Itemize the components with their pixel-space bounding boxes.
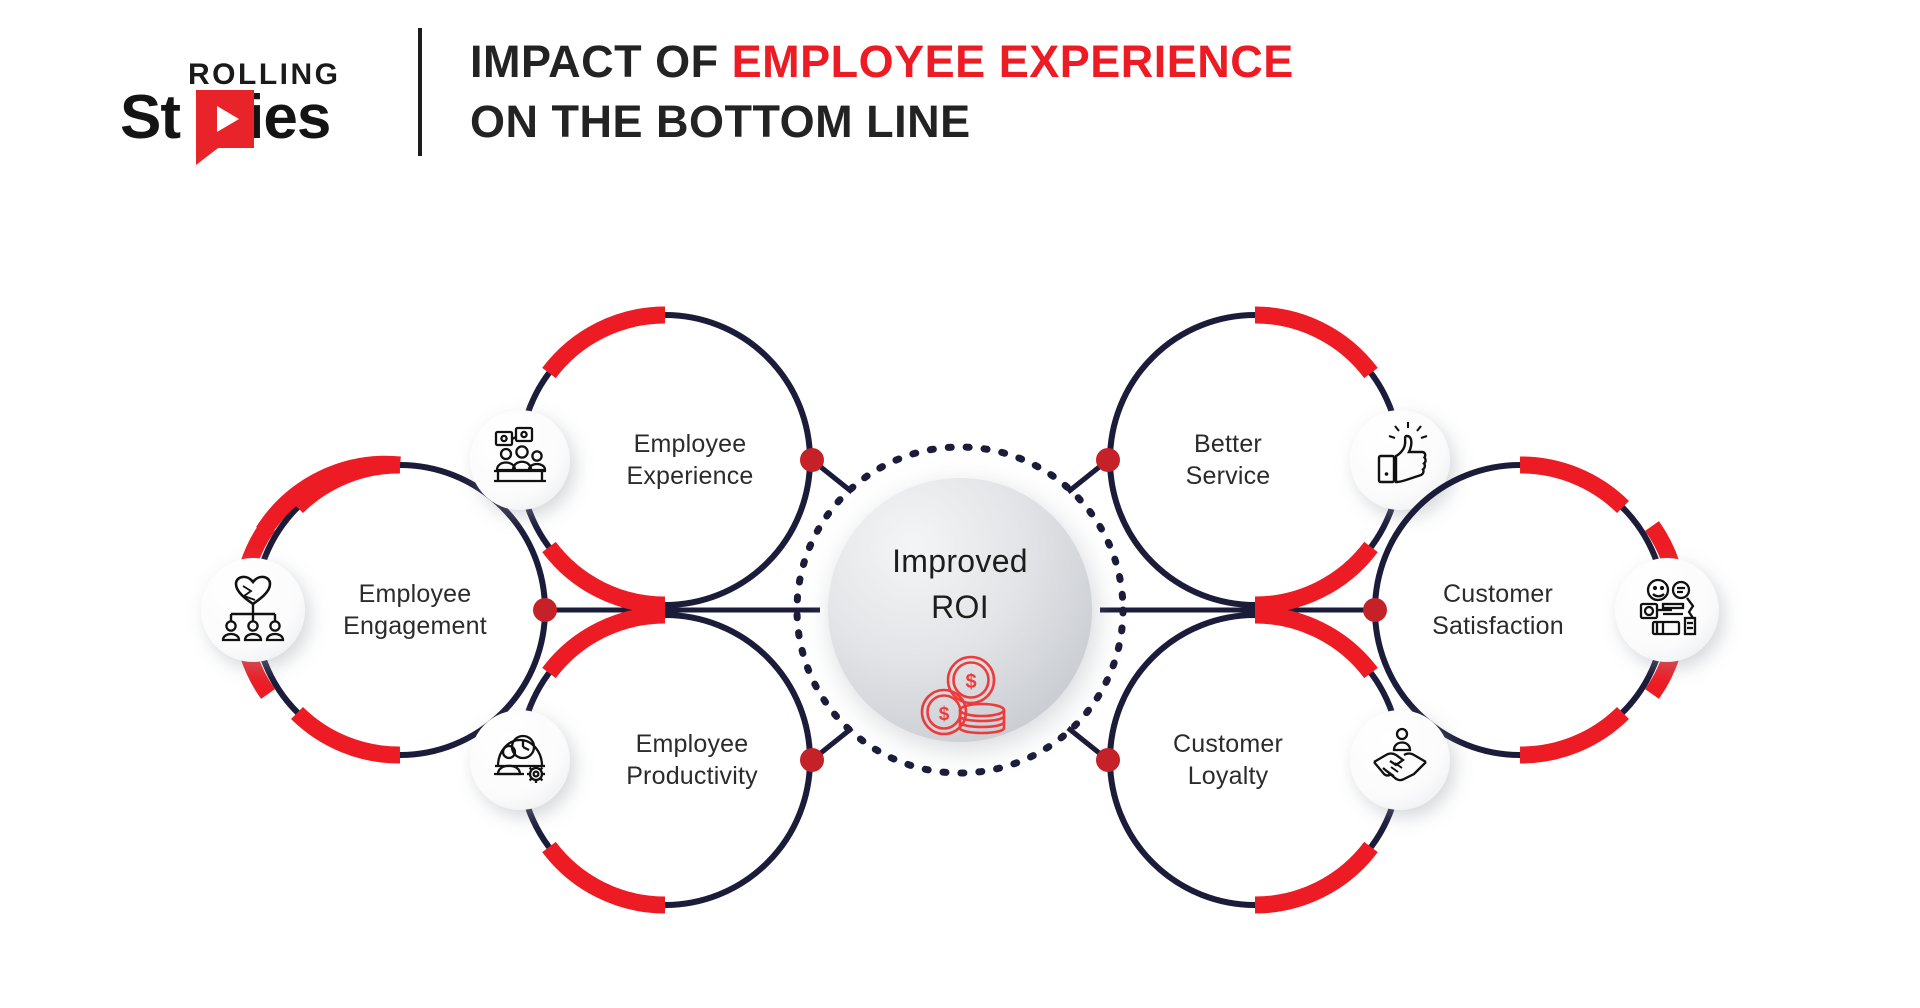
ring-arc-red-productivity-bottom (549, 847, 665, 905)
ring-arc-red-satisfaction-a (1520, 465, 1623, 507)
label-service-line2: Service (1186, 462, 1271, 490)
header-divider (418, 28, 422, 156)
badge-loyalty (1350, 710, 1450, 810)
label-service-line1: Better (1194, 430, 1262, 458)
connector-dot-experience (800, 448, 824, 472)
ring-arc-red-engagement-a (297, 465, 400, 507)
brand-logo: ROLLING Stries (60, 32, 390, 152)
label-experience-line2: Experience (626, 462, 753, 490)
center-label-line2: ROI (931, 589, 989, 625)
ring-arc-red-engagement-b (297, 713, 400, 755)
center-hub[interactable]: Improved ROI $ $ (797, 447, 1123, 773)
page-title: IMPACT OF EMPLOYEE EXPERIENCE ON THE BOT… (470, 32, 1294, 152)
label-engagement-line1: Employee (359, 580, 472, 608)
ring-arc-red-experience-bottom (549, 547, 665, 605)
label-satisfaction-line2: Satisfaction (1432, 612, 1564, 640)
ring-arc-red-loyalty-bottom (1255, 847, 1371, 905)
connector-dot-loyalty (1096, 748, 1120, 772)
title-line-2: ON THE BOTTOM LINE (470, 92, 1294, 152)
svg-text:$: $ (939, 704, 950, 725)
label-experience-line1: Employee (634, 430, 747, 458)
play-triangle-glyph (217, 106, 239, 132)
connector-dot-productivity (800, 748, 824, 772)
badge-productivity (470, 710, 570, 810)
ring-arc-red-productivity-top (549, 615, 665, 673)
badge-experience (470, 410, 570, 510)
label-satisfaction-line1: Customer (1443, 580, 1553, 608)
node-employee-productivity[interactable]: Employee Productivity (470, 615, 824, 905)
title-accent-text: EMPLOYEE EXPERIENCE (732, 36, 1294, 87)
connector-dot-service (1096, 448, 1120, 472)
label-productivity-line1: Employee (636, 730, 749, 758)
ring-arc-red-experience-top (549, 315, 665, 373)
diagram-canvas: Employee Engagement (0, 210, 1920, 1000)
node-employee-experience[interactable]: Employee Experience (470, 315, 824, 605)
ring-arc-red-satisfaction-c (1520, 713, 1623, 755)
logo-st-part: St (120, 83, 180, 152)
label-productivity-line2: Productivity (626, 762, 758, 790)
label-loyalty-line2: Loyalty (1188, 762, 1269, 790)
node-customer-satisfaction[interactable]: Customer Satisfaction (1363, 465, 1719, 755)
play-triangle-icon (196, 90, 254, 148)
node-customer-loyalty[interactable]: Customer Loyalty (1096, 615, 1450, 905)
connector-dot-engagement (533, 598, 557, 622)
header: ROLLING Stries IMPACT OF EMPLOYEE EXPERI… (60, 28, 1294, 156)
connector-dot-satisfaction (1363, 598, 1387, 622)
ring-arc-red-service-top (1255, 315, 1371, 373)
ring-arc-red-service-bottom (1255, 547, 1371, 605)
svg-text:$: $ (965, 671, 976, 693)
node-employee-engagement[interactable]: Employee Engagement (201, 464, 557, 755)
label-loyalty-line1: Customer (1173, 730, 1283, 758)
center-label-line1: Improved (892, 543, 1028, 579)
infographic-page: ROLLING Stries IMPACT OF EMPLOYEE EXPERI… (0, 0, 1920, 1008)
title-line-1: IMPACT OF EMPLOYEE EXPERIENCE (470, 32, 1294, 92)
title-dark-text: IMPACT OF (470, 36, 732, 87)
ring-arc-red-loyalty-top (1255, 615, 1371, 673)
node-better-service[interactable]: Better Service (1096, 315, 1450, 605)
label-engagement-line2: Engagement (343, 612, 487, 640)
